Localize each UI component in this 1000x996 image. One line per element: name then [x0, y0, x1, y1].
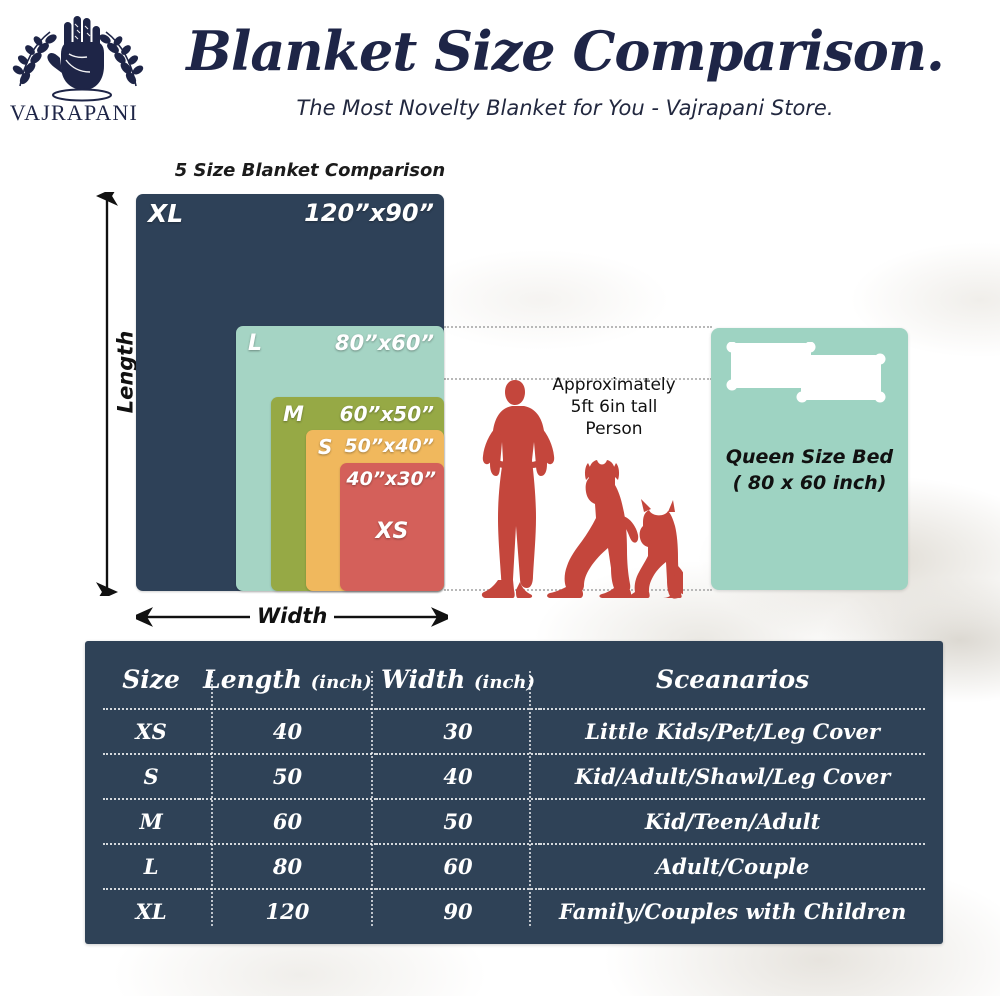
person-note-line-1: Approximately — [544, 374, 684, 396]
cell-length: 40 — [199, 709, 376, 754]
page-subtitle: The Most Novelty Blanket for You - Vajra… — [150, 96, 980, 120]
bed-label: Queen Size Bed ( 80 x 60 inch) — [711, 444, 908, 496]
bed-pillows-icon — [725, 342, 900, 420]
size-chart-table-container: Size Length (inch) Width (inch) Sceanari… — [85, 641, 943, 944]
table-row: S 50 40 Kid/Adult/Shawl/Leg Cover — [103, 754, 925, 799]
person-note-line-3: Person — [544, 418, 684, 440]
cell-width: 40 — [376, 754, 540, 799]
table-header-length-main: Length — [203, 665, 302, 694]
table-row: XL 120 90 Family/Couples with Children — [103, 889, 925, 933]
cell-width: 30 — [376, 709, 540, 754]
brand-name: VAJRAPANI — [4, 100, 144, 126]
bed-label-line-1: Queen Size Bed — [711, 444, 908, 470]
cell-length: 50 — [199, 754, 376, 799]
width-axis-label: Width — [250, 604, 334, 628]
cell-size: XL — [103, 889, 199, 933]
blanket-rect-xs: 40”x30” XS — [340, 463, 444, 591]
blanket-dim-label-xs: 40”x30” — [346, 468, 436, 490]
table-row: XS 40 30 Little Kids/Pet/Leg Cover — [103, 709, 925, 754]
cell-length: 80 — [199, 844, 376, 889]
cell-scenario: Little Kids/Pet/Leg Cover — [540, 709, 925, 754]
cell-scenario: Family/Couples with Children — [540, 889, 925, 933]
blanket-dim-label-xl: 120”x90” — [304, 199, 434, 227]
guide-line-bed-top — [444, 326, 712, 328]
table-header-size: Size — [103, 655, 199, 709]
queen-size-bed: Queen Size Bed ( 80 x 60 inch) — [711, 328, 908, 590]
cell-width: 50 — [376, 799, 540, 844]
cell-size: XS — [103, 709, 199, 754]
cell-length: 120 — [199, 889, 376, 933]
size-chart-table: Size Length (inch) Width (inch) Sceanari… — [103, 655, 925, 933]
table-row: M 60 50 Kid/Teen/Adult — [103, 799, 925, 844]
table-header-width-unit: (inch) — [474, 672, 535, 693]
table-header-width-main: Width — [381, 665, 465, 694]
table-header-length-unit: (inch) — [311, 672, 372, 693]
table-header-row: Size Length (inch) Width (inch) Sceanari… — [103, 655, 925, 709]
table-header-width: Width (inch) — [376, 655, 540, 709]
blanket-size-label-xs: XS — [340, 519, 444, 544]
table-row: L 80 60 Adult/Couple — [103, 844, 925, 889]
blanket-dim-label-l: 80”x60” — [335, 331, 434, 355]
bed-label-line-2: ( 80 x 60 inch) — [711, 470, 908, 496]
cell-size: S — [103, 754, 199, 799]
length-axis-label: Length — [113, 331, 137, 414]
table-header-length: Length (inch) — [199, 655, 376, 709]
page-title: Blanket Size Comparison. — [150, 22, 980, 80]
cell-length: 60 — [199, 799, 376, 844]
cell-scenario: Kid/Teen/Adult — [540, 799, 925, 844]
cell-width: 60 — [376, 844, 540, 889]
blanket-size-label-xl: XL — [148, 199, 183, 228]
header: VAJRAPANI Blanket Size Comparison. The M… — [0, 0, 1000, 145]
diagram-title: 5 Size Blanket Comparison — [140, 160, 480, 181]
person-height-note: Approximately 5ft 6in tall Person — [544, 374, 684, 440]
blanket-size-label-l: L — [248, 331, 262, 356]
blanket-size-label-s: S — [318, 435, 332, 459]
table-header-scenarios: Sceanarios — [540, 655, 925, 709]
cell-size: M — [103, 799, 199, 844]
cell-size: L — [103, 844, 199, 889]
blanket-size-infographic: VAJRAPANI Blanket Size Comparison. The M… — [0, 0, 1000, 996]
cell-width: 90 — [376, 889, 540, 933]
blanket-dim-label-m: 60”x50” — [340, 402, 434, 426]
cell-scenario: Adult/Couple — [540, 844, 925, 889]
cell-scenario: Kid/Adult/Shawl/Leg Cover — [540, 754, 925, 799]
blanket-dim-label-s: 50”x40” — [344, 435, 434, 457]
person-note-line-2: 5ft 6in tall — [544, 396, 684, 418]
blanket-size-label-m: M — [283, 402, 304, 426]
